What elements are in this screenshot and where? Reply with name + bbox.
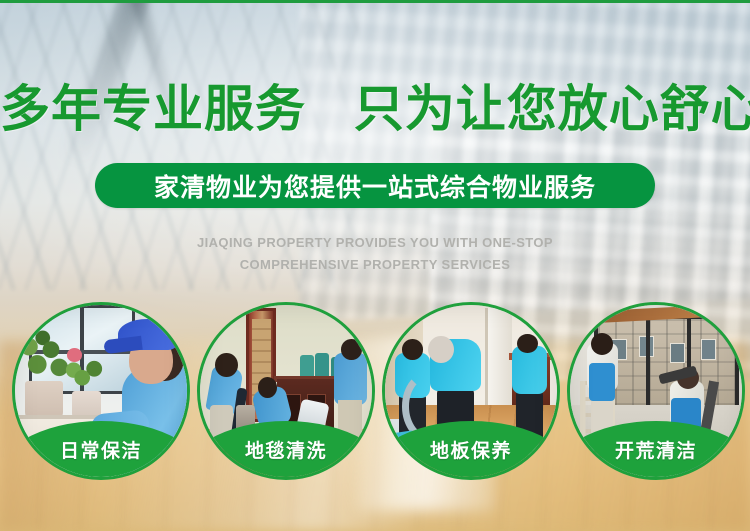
top-accent-rule bbox=[0, 0, 750, 3]
service-circle-daily-cleaning[interactable]: 日常保洁 bbox=[12, 302, 190, 480]
service-label-daily-cleaning: 日常保洁 bbox=[15, 436, 187, 463]
service-label-post-construction-cleaning: 开荒清洁 bbox=[570, 436, 742, 463]
promo-banner: 多年专业服务 只为让您放心舒心 家清物业为您提供一站式综合物业服务 JIAQIN… bbox=[0, 0, 750, 531]
subtitle-line-2: COMPREHENSIVE PROPERTY SERVICES bbox=[0, 254, 750, 276]
service-label-floor-maintenance: 地板保养 bbox=[385, 436, 557, 463]
service-label-carpet-washing: 地毯清洗 bbox=[200, 436, 372, 463]
tagline-pill: 家清物业为您提供一站式综合物业服务 bbox=[95, 163, 655, 208]
service-circle-floor-maintenance[interactable]: 地板保养 bbox=[382, 302, 560, 480]
subtitle-line-1: JIAQING PROPERTY PROVIDES YOU WITH ONE-S… bbox=[0, 232, 750, 254]
service-circle-row: 日常保洁 bbox=[0, 302, 750, 484]
headline-part-1: 多年专业服务 bbox=[0, 81, 306, 137]
subtitle-english: JIAQING PROPERTY PROVIDES YOU WITH ONE-S… bbox=[0, 232, 750, 276]
headline-part-2: 只为让您放心舒心 bbox=[354, 81, 750, 137]
service-circle-post-construction-cleaning[interactable]: 开荒清洁 bbox=[567, 302, 745, 480]
tagline-text: 家清物业为您提供一站式综合物业服务 bbox=[154, 168, 596, 204]
service-circle-carpet-washing[interactable]: 地毯清洗 bbox=[197, 302, 375, 480]
headline: 多年专业服务 只为让您放心舒心 bbox=[0, 84, 750, 134]
